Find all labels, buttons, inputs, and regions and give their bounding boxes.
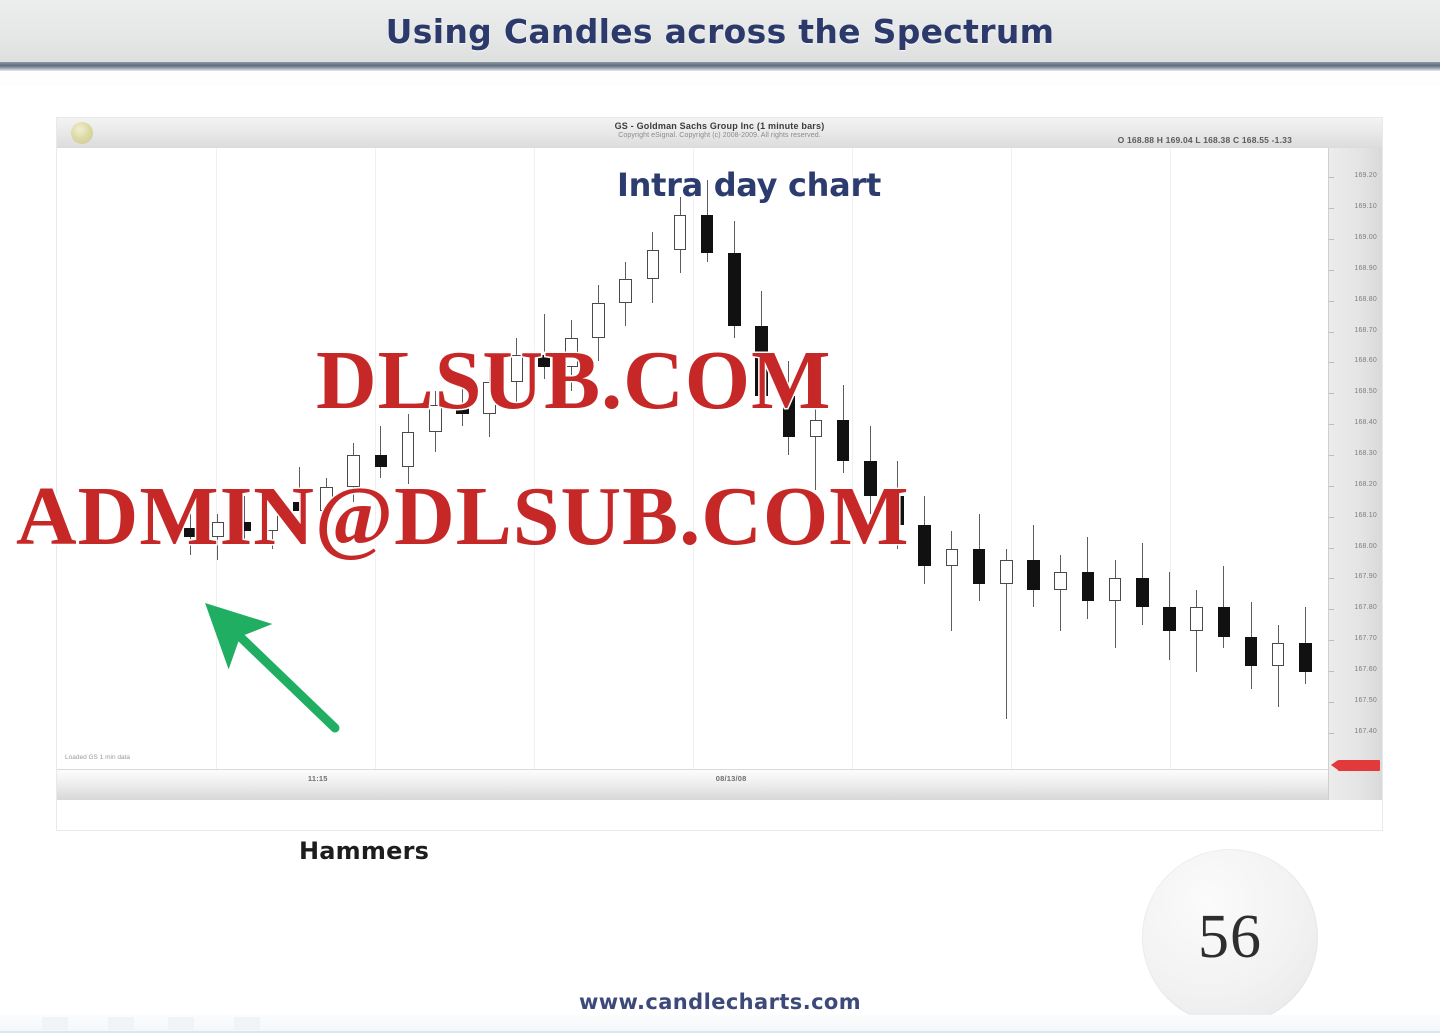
candle-body [918, 525, 931, 566]
price-axis-tick: 169.20 [1354, 172, 1377, 179]
candle-body [1054, 572, 1067, 590]
chart-instrument-label: GS - Goldman Sachs Group Inc (1 minute b… [57, 121, 1382, 131]
header-divider [0, 62, 1440, 71]
candle-body [1027, 560, 1040, 589]
candle-body [1299, 643, 1312, 672]
candlestick-bar [184, 148, 197, 770]
player-toolbar[interactable] [0, 1015, 1440, 1033]
candlestick-bar [1190, 148, 1203, 770]
candlestick-bar [891, 148, 904, 770]
candlestick-bar [674, 148, 687, 770]
candle-wick [1060, 555, 1061, 631]
candlestick-bar [1027, 148, 1040, 770]
candlestick-bar [1218, 148, 1231, 770]
candlestick-bar [701, 148, 714, 770]
candle-body [946, 549, 959, 567]
price-axis-tick: 167.60 [1354, 666, 1377, 673]
price-axis-tick-line [1329, 640, 1334, 641]
price-axis-tick-line [1329, 455, 1334, 456]
slide-header: Using Candles across the Spectrum [0, 0, 1440, 62]
candle-body [647, 250, 660, 279]
price-axis-tick-line [1329, 208, 1334, 209]
price-axis-tick: 168.70 [1354, 327, 1377, 334]
candlestick-bar [918, 148, 931, 770]
candle-body [701, 215, 714, 253]
price-axis-tick: 167.90 [1354, 573, 1377, 580]
price-axis-tick: 168.60 [1354, 357, 1377, 364]
candlestick-bar [1272, 148, 1285, 770]
footer-url: www.candlecharts.com [0, 990, 1440, 1014]
price-axis-tick-line [1329, 733, 1334, 734]
candle-body [1218, 607, 1231, 636]
price-axis-tick: 168.20 [1354, 481, 1377, 488]
candle-body [402, 432, 415, 467]
green-arrow-up-left [217, 616, 347, 736]
candlestick-bar [973, 148, 986, 770]
price-axis-tick-line [1329, 671, 1334, 672]
candlestick-bar [810, 148, 823, 770]
price-axis-tick-line [1329, 332, 1334, 333]
candle-body [1136, 578, 1149, 607]
candle-wick [1278, 625, 1279, 707]
price-axis-tick-line [1329, 517, 1334, 518]
candle-body [728, 253, 741, 326]
candlestick-bar [402, 148, 415, 770]
intraday-chart-label: Intra day chart [617, 166, 881, 204]
candlestick-bar [1054, 148, 1067, 770]
price-axis-tick-line [1329, 177, 1334, 178]
candle-body [1190, 607, 1203, 630]
price-axis-tick: 167.40 [1354, 728, 1377, 735]
candlestick-bar [837, 148, 850, 770]
hammers-annotation-label: Hammers [299, 837, 429, 865]
candlestick-bar [1163, 148, 1176, 770]
candlestick-bar [375, 148, 388, 770]
price-axis-tick: 169.00 [1354, 234, 1377, 241]
candlestick-bar [1082, 148, 1095, 770]
watermark-admin-email: ADMIN@DLSUB.COM [16, 468, 909, 565]
price-axis-tick: 168.10 [1354, 512, 1377, 519]
page-title: Using Candles across the Spectrum [386, 12, 1055, 51]
fullscreen-icon[interactable] [234, 1017, 260, 1030]
price-axis-tick-line [1329, 548, 1334, 549]
candlestick-bar [1136, 148, 1149, 770]
price-axis-tick: 168.90 [1354, 265, 1377, 272]
price-axis-tick: 167.70 [1354, 635, 1377, 642]
price-axis-tick-line [1329, 393, 1334, 394]
price-axis-tick: 168.30 [1354, 450, 1377, 457]
candle-body [1245, 637, 1258, 666]
price-axis-tick: 168.40 [1354, 419, 1377, 426]
price-axis-tick: 168.50 [1354, 388, 1377, 395]
candlestick-bar [511, 148, 524, 770]
candle-wick [951, 531, 952, 631]
price-axis-tick-line [1329, 239, 1334, 240]
chart-quote-line: O 168.88 H 169.04 L 168.38 C 168.55 -1.3… [1118, 135, 1292, 145]
candlestick-bar [347, 148, 360, 770]
current-price-marker [1338, 760, 1380, 771]
candle-body [674, 215, 687, 250]
candle-body [619, 279, 632, 302]
candle-body [1272, 643, 1285, 666]
chart-price-axis[interactable]: 169.20169.10169.00168.90168.80168.70168.… [1328, 148, 1382, 800]
candle-body [837, 420, 850, 461]
candlestick-bar [1299, 148, 1312, 770]
time-axis-tick: 11:15 [308, 774, 328, 783]
candlestick-bar [592, 148, 605, 770]
candle-body [1082, 572, 1095, 601]
candlestick-bar [946, 148, 959, 770]
price-axis-tick: 169.10 [1354, 203, 1377, 210]
candlestick-bar [538, 148, 551, 770]
chart-time-axis: Loaded GS 1 min data 11:1508/13/08 [57, 769, 1329, 800]
candlestick-bar [1245, 148, 1258, 770]
candlestick-bar [783, 148, 796, 770]
price-axis-tick-line [1329, 270, 1334, 271]
candle-body [1163, 607, 1176, 630]
price-axis-tick-line [1329, 424, 1334, 425]
candlestick-bar [619, 148, 632, 770]
price-axis-tick-line [1329, 486, 1334, 487]
price-axis-tick: 168.80 [1354, 296, 1377, 303]
price-axis-tick: 167.50 [1354, 697, 1377, 704]
chart-status-label: Loaded GS 1 min data [65, 754, 130, 761]
volume-icon[interactable] [108, 1017, 134, 1030]
watermark-dlsub: DLSUB.COM [316, 332, 831, 429]
candlestick-bar [1109, 148, 1122, 770]
candlestick-bar [429, 148, 442, 770]
candlestick-bar [565, 148, 578, 770]
header-divider-shine [0, 71, 1440, 85]
candlestick-bar [647, 148, 660, 770]
candle-body [973, 549, 986, 584]
price-axis-tick-line [1329, 362, 1334, 363]
candlestick-bar [483, 148, 496, 770]
candlestick-bar [1000, 148, 1013, 770]
candlestick-bar [864, 148, 877, 770]
price-axis-tick-line [1329, 609, 1334, 610]
candlestick-bar [728, 148, 741, 770]
page-number: 56 [1198, 902, 1262, 973]
price-axis-tick-line [1329, 578, 1334, 579]
candle-body [1109, 578, 1122, 601]
candlestick-bar [456, 148, 469, 770]
timeline-icon[interactable] [168, 1017, 194, 1030]
price-axis-tick-line [1329, 702, 1334, 703]
candle-body [1000, 560, 1013, 583]
candle-wick [1115, 560, 1116, 648]
candlestick-bar [755, 148, 768, 770]
price-axis-tick: 168.00 [1354, 543, 1377, 550]
price-axis-tick-line [1329, 301, 1334, 302]
time-axis-tick: 08/13/08 [716, 774, 747, 783]
play-icon[interactable] [42, 1017, 68, 1030]
price-axis-tick: 167.80 [1354, 604, 1377, 611]
candle-body [375, 455, 388, 467]
